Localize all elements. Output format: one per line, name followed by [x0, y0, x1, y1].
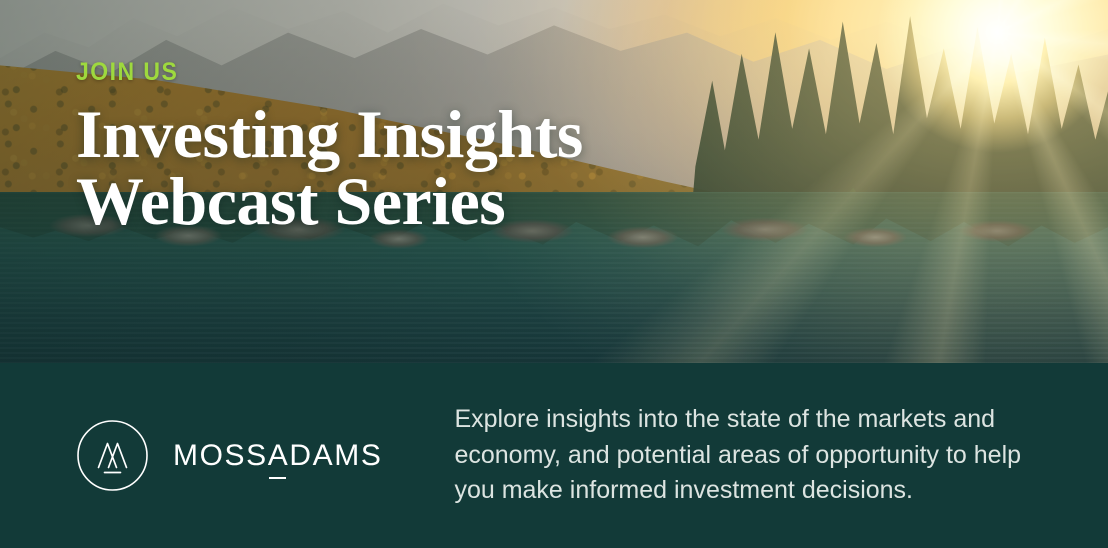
moss-adams-logo-icon — [76, 419, 149, 492]
wordmark-underlined-a: A — [268, 439, 290, 472]
eyebrow-join-us: JOIN US — [76, 60, 542, 85]
moss-adams-wordmark: MOSSADAMS — [173, 441, 382, 471]
page-title: Investing Insights Webcast Series — [76, 101, 583, 236]
webcast-promo-banner: JOIN US Investing Insights Webcast Serie… — [0, 0, 1108, 548]
info-panel: MOSSADAMS Explore insights into the stat… — [0, 363, 1108, 548]
wordmark-part-2: DAMS — [289, 439, 382, 472]
hero-image: JOIN US Investing Insights Webcast Serie… — [0, 0, 1108, 363]
description-text: Explore insights into the state of the m… — [454, 402, 1054, 509]
hero-copy-block: JOIN US Investing Insights Webcast Serie… — [76, 60, 583, 236]
brand-lockup[interactable]: MOSSADAMS — [76, 419, 382, 492]
wordmark-part-1: MOSS — [173, 439, 268, 472]
